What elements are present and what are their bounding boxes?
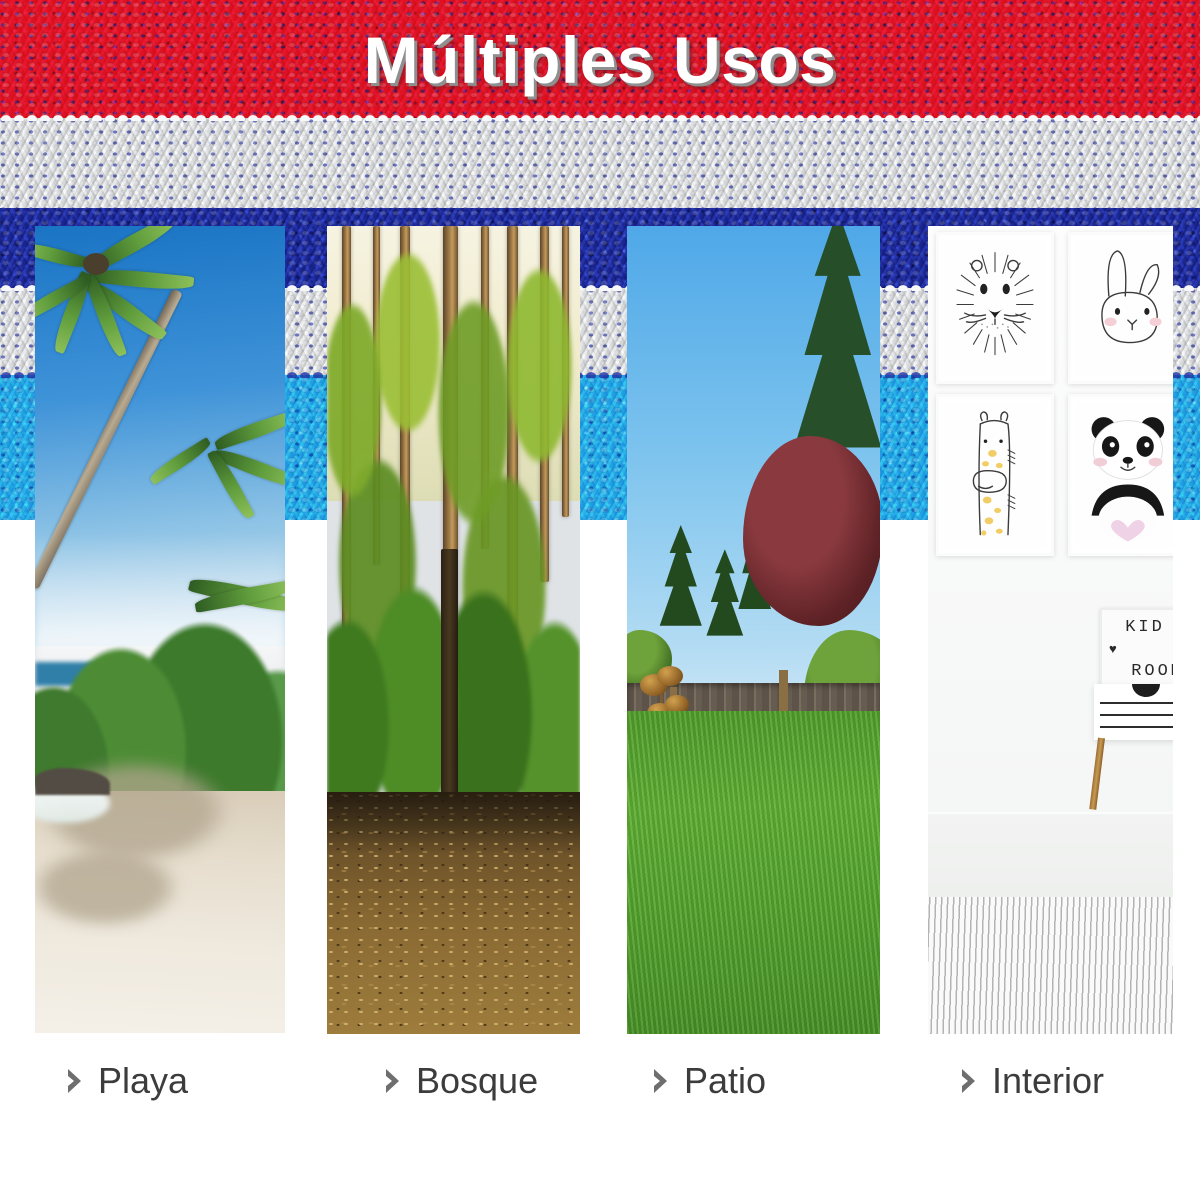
product-feature-image: Múltiples Usos <box>0 0 1200 1200</box>
chevron-right-icon <box>64 1066 86 1096</box>
giraffe-icon <box>944 402 1046 548</box>
panel-playa[interactable] <box>35 226 285 1033</box>
sideboard-handle <box>1132 684 1160 697</box>
sideboard-line <box>1100 702 1173 704</box>
page-title: Múltiples Usos <box>0 26 1200 95</box>
poster-frame-bunny[interactable] <box>1068 232 1173 384</box>
panel-patio[interactable] <box>627 226 880 1034</box>
caption-playa: Playa <box>64 1060 188 1102</box>
poster-frame-lion[interactable] <box>936 232 1054 384</box>
caption-label: Interior <box>992 1060 1104 1102</box>
forest-leaf-litter-floor <box>327 792 580 1034</box>
caption-interior: Interior <box>958 1060 1104 1102</box>
bunny-icon <box>1076 240 1173 376</box>
panda-icon <box>1076 402 1173 548</box>
caption-label: Bosque <box>416 1060 538 1102</box>
chevron-right-icon <box>958 1066 980 1096</box>
lion-icon <box>944 240 1046 376</box>
chevron-right-icon <box>382 1066 404 1096</box>
patio-lawn <box>627 711 880 1034</box>
stripe-white-upper <box>0 118 1200 212</box>
striped-rug <box>928 897 1173 1034</box>
light-box-sign: KID ♥ ROOM <box>1100 608 1173 686</box>
beach-wet-sand <box>35 847 180 928</box>
chevron-right-icon <box>650 1066 672 1096</box>
panel-interior[interactable]: KID ♥ ROOM <box>928 226 1173 1034</box>
caption-row: Playa Bosque Patio Interior <box>0 1052 1200 1122</box>
caption-patio: Patio <box>650 1060 766 1102</box>
sideboard-line <box>1100 726 1173 728</box>
palm-crown-knot <box>83 253 109 275</box>
light-box-line-2: ROOM <box>1102 660 1173 682</box>
light-box-symbol-row: ♥ <box>1102 640 1173 658</box>
copper-beech-tree <box>743 436 880 626</box>
stripe-edge-wave-1 <box>0 112 1200 121</box>
caption-bosque: Bosque <box>382 1060 538 1102</box>
panel-bosque[interactable] <box>327 226 580 1034</box>
caption-label: Patio <box>684 1060 766 1102</box>
light-box-line-1: KID <box>1102 616 1173 638</box>
sideboard-line <box>1100 714 1173 716</box>
sideboard <box>1094 684 1173 740</box>
poster-frame-panda[interactable] <box>1068 394 1173 556</box>
poster-frame-giraffe[interactable] <box>936 394 1054 556</box>
caption-label: Playa <box>98 1060 188 1102</box>
